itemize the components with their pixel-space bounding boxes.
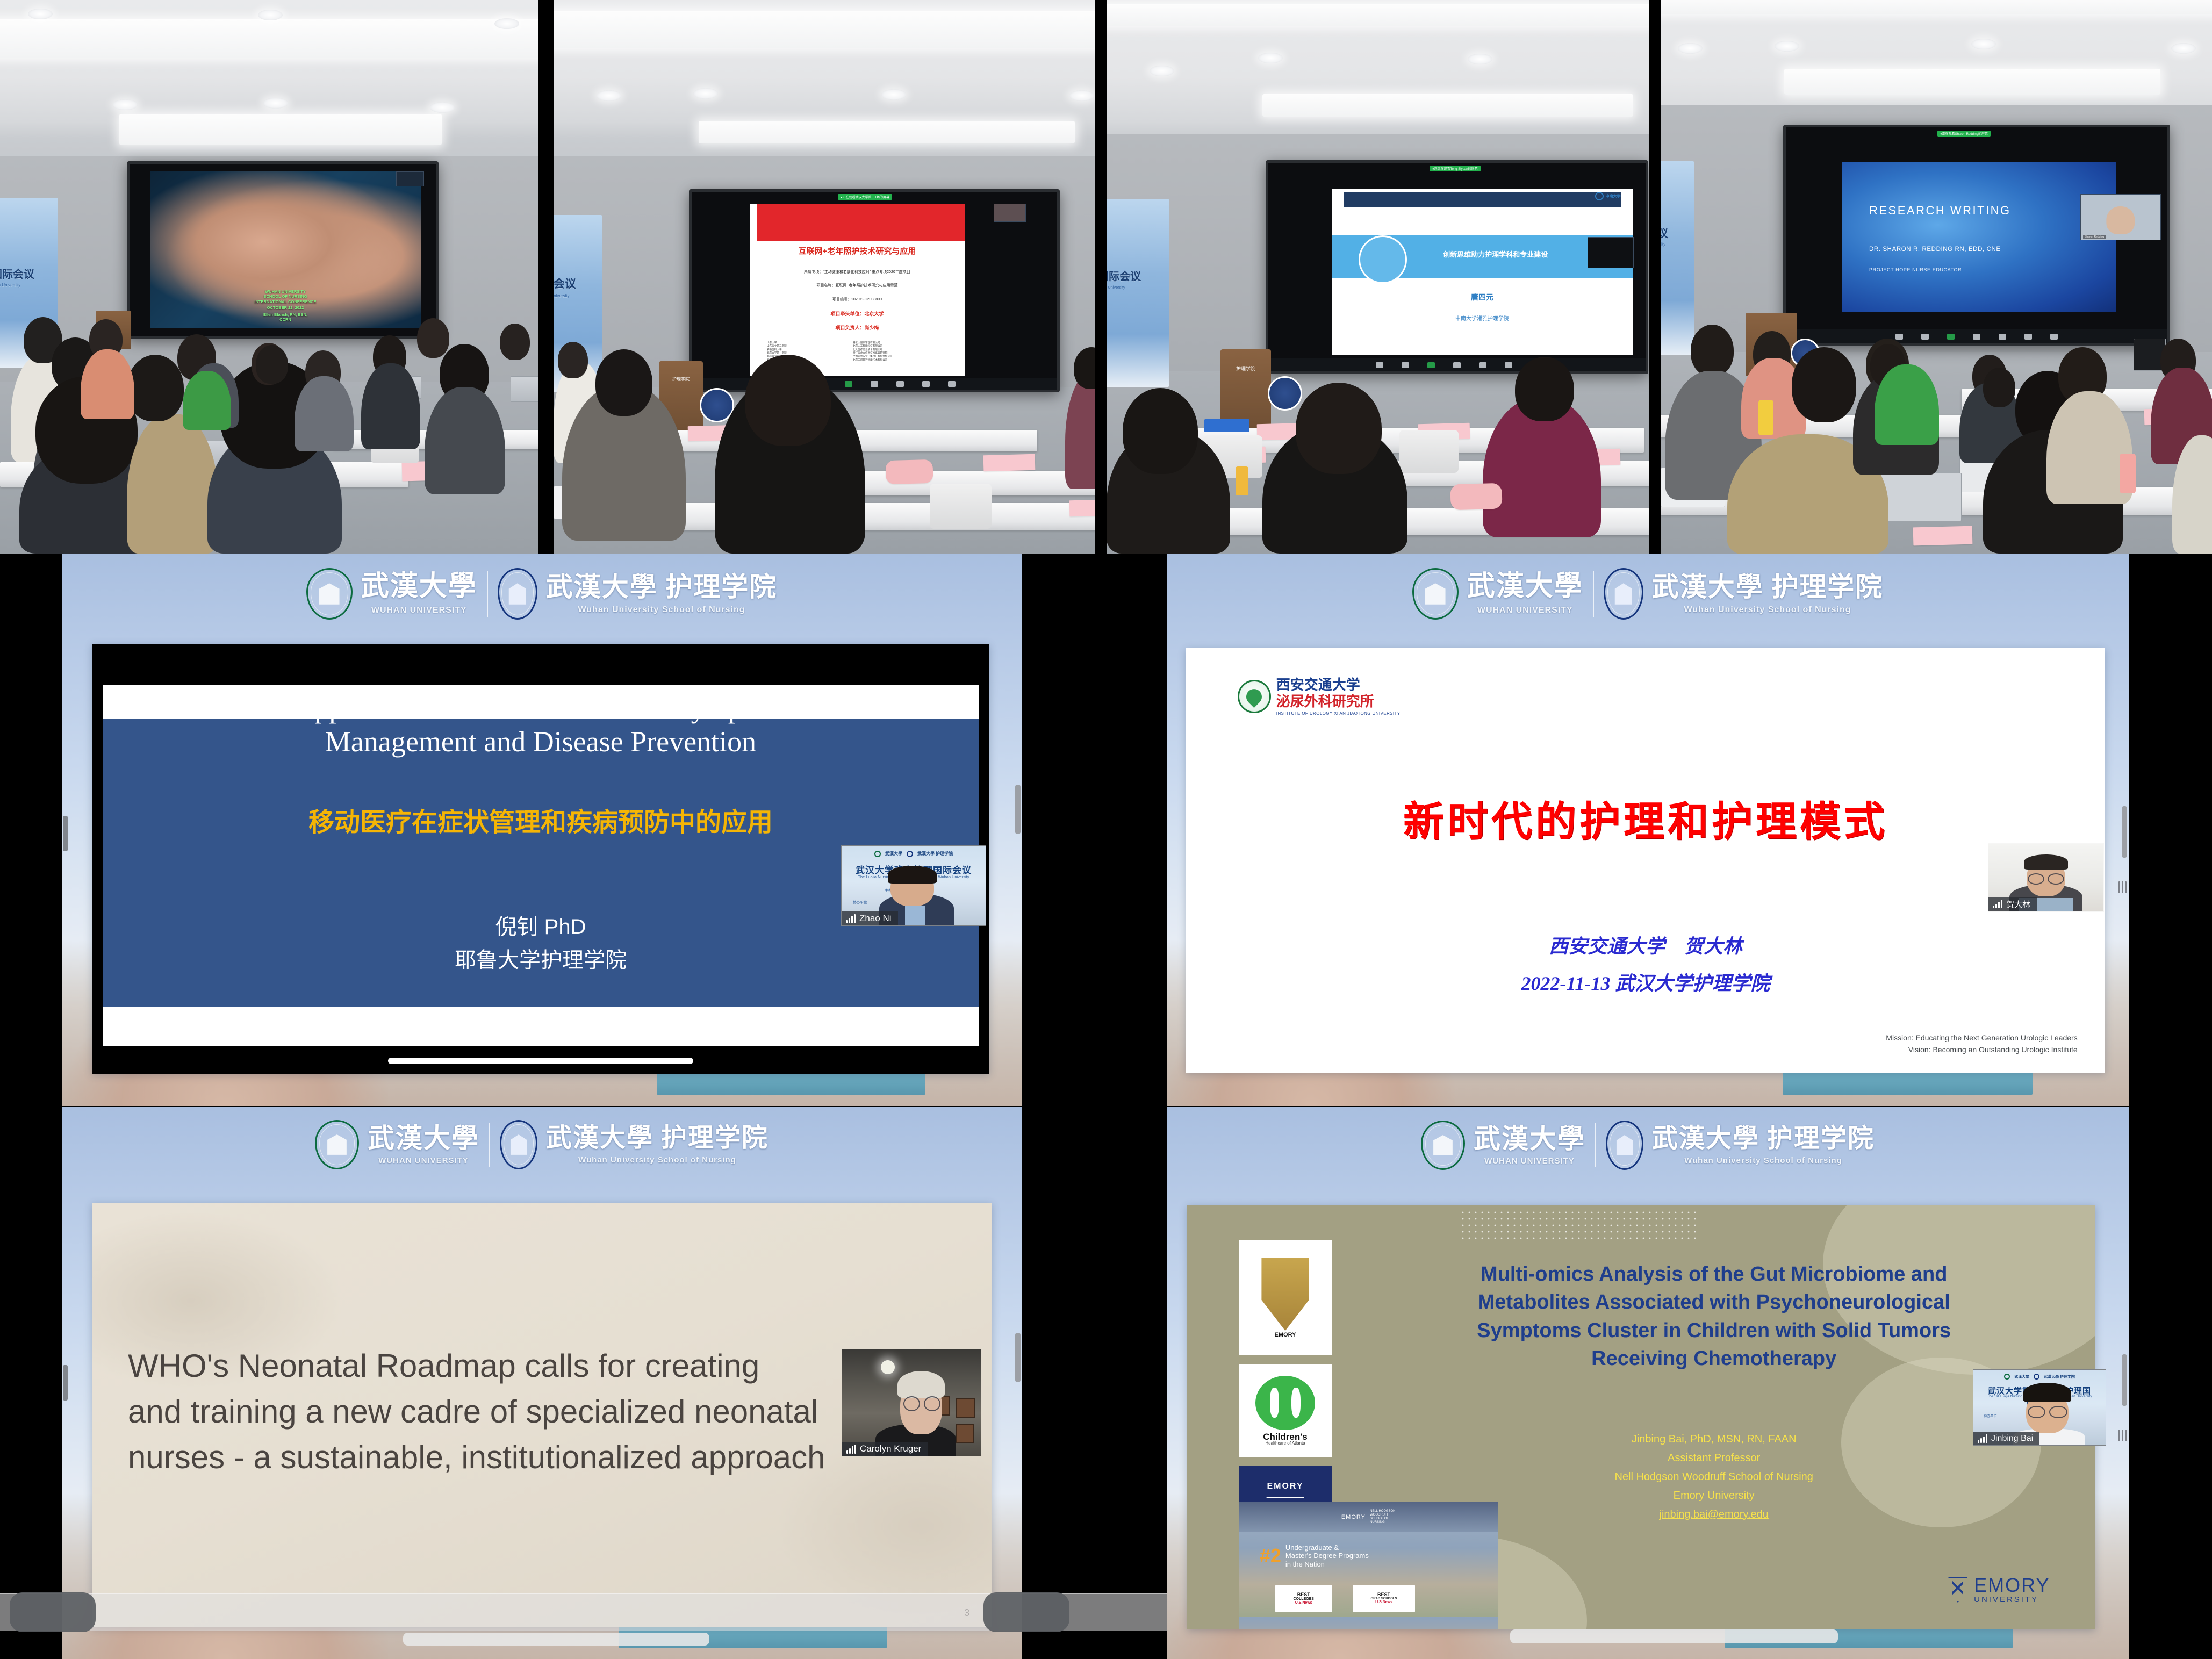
wuhan-university-cn: 武漢大學	[361, 573, 477, 601]
audience-head	[500, 324, 530, 360]
school-of-nursing-en: Wuhan University School of Nursing	[578, 605, 745, 615]
xjtu-urology-badge-icon	[1238, 680, 1271, 713]
thumb-wu-seal-icon	[2004, 1374, 2010, 1380]
emory-university-footer-logo: EMORY UNIVERSITY	[1947, 1576, 2050, 1604]
record-icon[interactable]	[871, 381, 878, 387]
school-of-nursing-cn: 武漢大學 护理学院	[546, 1125, 769, 1151]
panel-resize-grip[interactable]	[63, 1365, 68, 1401]
xjtu-urology-logo: 西安交通大学 泌尿外科研究所 INSTITUTE OF UROLOGY XI'A…	[1238, 678, 1401, 715]
vertical-scrollbar-thumb[interactable]	[2122, 1354, 2127, 1406]
apps-icon[interactable]	[948, 381, 956, 387]
live-transcript-icon[interactable]	[1479, 362, 1486, 368]
thumb-logo-row: 武漢大學 武漢大學 护理学院	[842, 851, 986, 857]
slide-byline: 西安交通大学 贺大林 2022-11-13 武汉大学护理学院	[1260, 928, 2031, 1002]
live-transcript-icon[interactable]	[1999, 334, 2006, 340]
horizontal-scrollbar-thumb-right[interactable]	[1510, 1629, 1838, 1643]
venue-banner-cn: 国际会议	[554, 275, 576, 291]
thumb-cohost-label: 协办单位	[1984, 1413, 1997, 1418]
lecture-hall-photo-1: 护理国际会议 Conference, Wuhan University WUHA…	[0, 0, 538, 554]
speaker-hair	[897, 1371, 945, 1398]
school-of-nursing-logo: 武漢大學 护理学院 Wuhan University School of Nur…	[1604, 568, 1884, 620]
thermos	[1758, 400, 1773, 435]
slide-title: 互联网+老年照护技术研究与应用	[750, 245, 965, 256]
audience-head	[1792, 347, 1856, 422]
laptop	[511, 376, 538, 402]
slide-presenter: DR. SHARON R. REDDING RN, EDD, CNE	[1869, 246, 2105, 253]
slide-horizontal-scroll-thumb[interactable]	[388, 1058, 693, 1065]
downlight-icon	[1468, 54, 1492, 64]
wuhan-university-cn: 武漢大學	[1467, 573, 1583, 601]
venue-banner-en: onference, Wuhan University	[1107, 285, 1125, 290]
school-of-nursing-en: Wuhan University School of Nursing	[1684, 1156, 1842, 1165]
speaker-name-badge: Carolyn Kruger	[842, 1442, 928, 1456]
panel-mobile-health: 武漢大學 WUHAN UNIVERSITY 武漢大學 护理学院 Wuhan Un…	[62, 554, 1022, 1106]
venue-banner: 会议 University	[1661, 161, 1694, 355]
speaker-name: Jinbing Bai	[1991, 1434, 2033, 1443]
slide-research-writing: RESEARCH WRITING DR. SHARON R. REDDING R…	[1842, 162, 2116, 312]
audience-head	[595, 349, 652, 416]
panel-who-neonatal: 武漢大學 WUHAN UNIVERSITY 武漢大學 护理学院 Wuhan Un…	[62, 1107, 1022, 1659]
thumb-wu-seal-icon	[874, 851, 881, 857]
pip-face	[2106, 206, 2135, 234]
speaker-name: 贺大林	[2006, 899, 2030, 910]
audience-head	[127, 355, 184, 421]
slide-line-2: 项目名称：互联网+老年照护技术研究与应用示范	[758, 283, 956, 288]
record-icon[interactable]	[1973, 334, 1980, 340]
video-icon[interactable]	[922, 381, 930, 387]
panel-new-era-nursing: 武漢大學 WUHAN UNIVERSITY 武漢大學 护理学院 Wuhan Un…	[1167, 554, 2129, 1106]
wuhan-university-seal-icon	[1421, 1121, 1465, 1170]
logo-divider	[489, 1123, 490, 1167]
audience-head	[1983, 368, 2015, 407]
ceiling-light-panel	[119, 114, 442, 145]
slide-header-bar	[1344, 192, 1620, 207]
wuhan-university-logo: 武漢大學 WUHAN UNIVERSITY	[1412, 568, 1583, 620]
csu-logo-cn: 中南大学	[1606, 193, 1621, 199]
thumb-nursing-seal-icon	[907, 851, 913, 857]
panel-resize-grip[interactable]	[63, 816, 68, 851]
wuhan-university-header: 武漢大學 WUHAN UNIVERSITY 武漢大學 护理学院 Wuhan Un…	[1167, 1107, 2129, 1183]
venue-banner: 护理国际会议 onference, Wuhan University	[1107, 199, 1169, 387]
thermos	[1236, 466, 1248, 495]
xjtu-cn-line-2: 泌尿外科研究所	[1276, 694, 1401, 709]
vertical-scrollbar-thumb[interactable]	[1015, 785, 1021, 834]
glasses-icon	[2028, 1406, 2067, 1418]
slide-line-3: 项目编号：2020YFC2008800	[758, 297, 956, 302]
speaker-name: Carolyn Kruger	[860, 1443, 921, 1454]
participants-icon[interactable]	[1376, 362, 1383, 368]
downlight-icon	[263, 98, 288, 109]
audience-head	[1691, 325, 1734, 376]
mission-divider	[1798, 1028, 2078, 1028]
school-of-nursing-seal-icon	[1606, 1121, 1643, 1170]
speaker-thumbnail-jinbing-bai[interactable]: 武漢大學 武漢大學 护理学院 武汉大学第一届珞珈护理国际会议 The 1st L…	[1973, 1369, 2106, 1446]
best-colleges-line1: BEST	[1297, 1592, 1310, 1597]
downlight-icon	[1069, 90, 1094, 101]
audience-head	[558, 342, 588, 378]
emory-footer-wordsub: UNIVERSITY	[1974, 1595, 2050, 1604]
wuhan-university-header: 武漢大學 WUHAN UNIVERSITY 武漢大學 护理学院 Wuhan Un…	[1167, 554, 2129, 634]
mission-vision-block: Mission: Educating the Next Generation U…	[1886, 1032, 2077, 1055]
pip-video-tile: Sharon Redding	[2080, 194, 2161, 240]
thermos	[2120, 454, 2136, 493]
wuhan-university-logo: 武漢大學 WUHAN UNIVERSITY	[315, 1120, 479, 1169]
thumb-cohost-label: 协办单位	[853, 899, 867, 904]
wuhan-university-en: WUHAN UNIVERSITY	[1484, 1157, 1575, 1166]
downlight-icon	[693, 88, 718, 99]
best-colleges-source: U.S.News	[1295, 1601, 1312, 1605]
thumb-nursing-seal-icon	[2034, 1374, 2039, 1380]
wuhan-university-seal-icon	[315, 1120, 359, 1169]
screenshot-collage: 护理国际会议 Conference, Wuhan University WUHA…	[0, 0, 2212, 1659]
share-screen-icon[interactable]	[1427, 362, 1435, 368]
emory-footer-shield-icon	[1947, 1577, 1969, 1603]
share-screen-icon[interactable]	[1947, 334, 1955, 340]
venue-banner-en: e, Wuhan University	[554, 293, 569, 298]
slide-chinese-title: 移动医疗在症状管理和疾病预防中的应用	[137, 807, 945, 838]
projection-screen: WUHAN UNIVERSITY SCHOOL OF NURSING INTER…	[127, 161, 439, 339]
emory-crest-label: EMORY	[1275, 1332, 1296, 1338]
rank-emory-label: EMORY	[1341, 1514, 1366, 1520]
zoom-toolbar[interactable]	[1786, 329, 2167, 343]
wuhan-university-header: 武漢大學 WUHAN UNIVERSITY 武漢大學 护理学院 Wuhan Un…	[62, 1107, 1022, 1182]
venue-banner-en: Conference, Wuhan University	[0, 283, 20, 288]
slide-elderly-care: 互联网+老年照护技术研究与应用 所属专项："主动健康和老龄化科技应对" 重点专项…	[750, 204, 965, 376]
best-colleges-line2: COLLEGES	[1293, 1597, 1314, 1601]
picture-frame	[956, 1424, 974, 1443]
thumbnail-strip-toggle[interactable]	[2118, 881, 2127, 893]
downlight-icon	[1775, 41, 1799, 52]
thumbnail-strip-toggle[interactable]	[2118, 1430, 2127, 1441]
downlight-icon	[1971, 39, 1996, 49]
best-colleges-badge: BEST COLLEGES U.S.News	[1275, 1585, 1332, 1612]
dot-pattern	[1460, 1209, 1696, 1243]
school-of-nursing-seal-icon	[500, 1120, 537, 1169]
school-of-nursing-seal-icon	[498, 568, 537, 620]
picture-frame	[956, 1398, 975, 1418]
downlight-icon	[1150, 66, 1174, 76]
slide-line-1: 所属专项："主动健康和老龄化科技应对" 重点专项2020年度项目	[758, 269, 956, 275]
childrens-mark-icon	[1255, 1376, 1315, 1430]
record-icon[interactable]	[1453, 362, 1461, 368]
speaker-name-badge: Jinbing Bai	[1973, 1432, 2039, 1445]
speaker-thumbnail-carolyn-kruger[interactable]: Carolyn Kruger	[842, 1349, 981, 1456]
chat-icon[interactable]	[1921, 334, 1929, 340]
ceiling-light-panel	[699, 121, 1075, 143]
venue-banner-cn: 护理国际会议	[0, 265, 34, 281]
audience-member	[183, 371, 231, 430]
chair	[1399, 430, 1459, 473]
slide-role: PROJECT HOPE NURSE EDUCATOR	[1869, 267, 2105, 272]
overlay-cap-right[interactable]	[983, 1592, 1069, 1632]
speaker-name-badge: 贺大林	[1988, 897, 2037, 911]
chat-icon[interactable]	[1402, 362, 1409, 368]
projection-screen: ●正在观看Sharon Redding的屏幕 RESEARCH WRITING …	[1783, 125, 2170, 346]
best-grad-source: U.S.News	[1375, 1600, 1392, 1604]
panel-multi-omics: 武漢大學 WUHAN UNIVERSITY 武漢大學 护理学院 Wuhan Un…	[1167, 1107, 2129, 1659]
author-email-link[interactable]: jinbing.bai@emory.edu	[1387, 1505, 2041, 1524]
school-of-nursing-cn: 武漢大學 护理学院	[546, 573, 778, 600]
wuhan-university-en: WUHAN UNIVERSITY	[371, 606, 467, 615]
wuhan-university-logo: 武漢大學 WUHAN UNIVERSITY	[306, 568, 477, 620]
pip-video-tile	[994, 204, 1026, 222]
recording-banner: ●您正在观看Teng Siyuan的屏幕	[1430, 166, 1481, 171]
wuhan-university-en: WUHAN UNIVERSITY	[1477, 606, 1573, 615]
downlight-icon	[1258, 53, 1283, 63]
desk-row	[645, 503, 1095, 530]
slide-english-title: Application of Mobile Health in Symptom …	[137, 691, 945, 758]
slide-title: RESEARCH WRITING	[1869, 204, 2099, 218]
handout-paper	[1069, 499, 1095, 517]
podium-label: 护理学院	[672, 376, 690, 382]
school-of-nursing-en: Wuhan University School of Nursing	[1684, 605, 1851, 615]
vision-line: Vision: Becoming an Outstanding Urologic…	[1886, 1044, 2077, 1056]
participants-icon[interactable]	[1895, 334, 1903, 340]
thumb-logo-row: 武漢大學 武漢大學 护理学院	[1973, 1374, 2106, 1380]
pip-name-label: Sharon Redding	[2083, 235, 2106, 239]
author-school: Nell Hodgson Woodruff School of Nursing	[1387, 1468, 2041, 1486]
signal-strength-icon	[1978, 1434, 1987, 1443]
author-name: Jinbing Bai, PhD, MSN, RN, FAAN	[1387, 1430, 2041, 1449]
downlight-icon	[597, 90, 621, 101]
wuhan-university-seal-icon	[1412, 568, 1459, 620]
rank-statement: #2 Undergraduate & Master's Degree Progr…	[1260, 1543, 1369, 1569]
logo-divider	[1595, 1123, 1596, 1167]
wuhan-university-cn: 武漢大學	[368, 1125, 479, 1152]
venue-banner-en: University	[1661, 242, 1665, 247]
downlight-icon	[113, 99, 138, 110]
glasses-icon	[903, 1396, 941, 1411]
share-screen-icon[interactable]	[845, 381, 852, 387]
slide-body: WHO's Neonatal Roadmap calls for creatin…	[128, 1343, 965, 1481]
audience-head	[1123, 388, 1198, 474]
recording-banner: ●正在观看Sharon Redding的屏幕	[1937, 131, 1991, 137]
slide-multi-omics[interactable]: EMORY Children's Healthcare of Atlanta E…	[1187, 1205, 2095, 1629]
emory-crest-icon	[1255, 1258, 1315, 1331]
csu-seal-icon	[1595, 192, 1604, 200]
ceiling-light-panel	[1784, 69, 2160, 95]
downlight-icon	[494, 18, 519, 29]
audience-member	[81, 349, 134, 419]
laptop	[1876, 473, 1962, 521]
logo-divider	[487, 571, 488, 617]
overlay-cap-left[interactable]	[10, 1592, 96, 1632]
downlight-icon	[1678, 43, 1703, 54]
horizontal-scrollbar-thumb-left[interactable]	[403, 1633, 709, 1646]
wuhan-university-header: 武漢大學 WUHAN UNIVERSITY 武漢大學 护理学院 Wuhan Un…	[62, 554, 1022, 634]
speaker-hair	[2024, 854, 2067, 870]
childrens-name: Children's	[1263, 1432, 1307, 1441]
folder	[1204, 419, 1249, 432]
speaker-hair	[888, 866, 937, 884]
downlight-icon	[881, 89, 906, 100]
slide-title: 新时代的护理和护理模式	[1241, 788, 2050, 848]
school-of-nursing-cn: 武漢大學 护理学院	[1652, 1126, 1875, 1152]
slide-white-band-bottom	[103, 1007, 979, 1046]
xjtu-en-line: INSTITUTE OF UROLOGY XI'AN JIAOTONG UNIV…	[1276, 711, 1401, 716]
best-grad-line1: BEST	[1377, 1592, 1390, 1597]
signal-strength-icon	[1993, 900, 2002, 908]
speaker-thumbnail-he-dalin[interactable]: 贺大林	[1988, 843, 2104, 912]
slide-red-band	[750, 204, 965, 241]
downlight-icon	[28, 9, 53, 19]
venue-banner-cn: 会议	[1661, 225, 1668, 240]
signal-strength-icon	[846, 1445, 856, 1454]
best-grad-schools-badge: BEST GRAD SCHOOLS U.S.News	[1353, 1585, 1415, 1612]
speaker-hair	[2023, 1383, 2071, 1402]
slide-innovation-thinking: 中南大学 创新思维助力护理学科和专业建设 唐四元 中南大学湘雅护理学院	[1332, 189, 1633, 355]
slide-partners-right: 腾云大健康管理有限公司 北京人工智能科技有限公司 北大医疗信息技术有限公司 浙江…	[853, 341, 893, 362]
slide-affiliation: 中南大学湘雅护理学院	[1332, 314, 1633, 322]
vertical-scrollbar-thumb[interactable]	[2122, 806, 2127, 858]
slide-new-era-nursing[interactable]: 西安交通大学 泌尿外科研究所 INSTITUTE OF UROLOGY XI'A…	[1186, 648, 2105, 1073]
rank-number: #2	[1260, 1545, 1281, 1567]
zoom-toolbar[interactable]	[1268, 358, 1646, 371]
slide-letterbox	[92, 644, 989, 685]
lecture-hall-photo-2: 国际会议 e, Wuhan University ●正在观看武汉大学第三1场的屏…	[554, 0, 1095, 554]
audience-member	[295, 376, 354, 451]
downlight-icon	[258, 10, 283, 20]
downlight-icon	[2171, 43, 2196, 54]
audience-head	[256, 345, 288, 384]
speaker-name: Zhao Ni	[859, 913, 892, 924]
speaker-collar	[905, 906, 925, 925]
school-of-nursing-logo: 武漢大學 护理学院 Wuhan University School of Nur…	[498, 568, 778, 620]
slide-caption: WUHAN UNIVERSITY SCHOOL OF NURSING INTER…	[199, 289, 372, 322]
slide-lead-unit: 项目牵头单位：北京大学	[758, 310, 956, 317]
podium-seal-icon	[1268, 376, 1302, 411]
school-of-nursing-seal-icon	[1604, 568, 1643, 620]
handout-paper	[983, 454, 1036, 472]
speaker-name-badge: Zhao Ni	[842, 911, 898, 925]
wuhan-university-logo: 武漢大學 WUHAN UNIVERSITY	[1421, 1121, 1585, 1170]
slide-title: Multi-omics Analysis of the Gut Microbio…	[1387, 1260, 2041, 1373]
live-transcript-icon[interactable]	[896, 381, 904, 387]
slide-presenter: 倪钊 PhD 耶鲁大学护理学院	[137, 910, 945, 977]
glasses-icon	[2028, 873, 2064, 884]
slide-author-block: Jinbing Bai, PhD, MSN, RN, FAAN Assistan…	[1387, 1430, 2041, 1524]
conference-photo-row: 护理国际会议 Conference, Wuhan University WUHA…	[0, 0, 2212, 554]
wuhan-university-en: WUHAN UNIVERSITY	[378, 1156, 469, 1165]
lecture-hall-photo-4: 会议 University ●正在观看Sharon Redding的屏幕 RES…	[1661, 0, 2212, 554]
xjtu-cn-line-1: 西安交通大学	[1276, 678, 1401, 692]
podium-label: 护理学院	[1236, 365, 1255, 372]
slide-presenter: 唐四元	[1332, 292, 1633, 303]
school-of-nursing-logo: 武漢大學 护理学院 Wuhan University School of Nur…	[500, 1120, 769, 1169]
vertical-scrollbar-thumb[interactable]	[1015, 1333, 1021, 1382]
author-role: Assistant Professor	[1387, 1449, 2041, 1468]
csu-big-seal-icon	[1359, 235, 1407, 284]
emory-card-word: EMORY	[1267, 1482, 1303, 1491]
pouch	[885, 459, 933, 484]
wuhan-university-seal-icon	[306, 568, 353, 620]
downlight-icon	[430, 102, 455, 113]
chair	[930, 484, 992, 529]
slide-lead-person: 项目负责人：尚少梅	[758, 324, 956, 331]
logo-divider	[1593, 571, 1594, 617]
ceiling-light-strip	[0, 19, 538, 58]
school-of-nursing-cn: 武漢大學 护理学院	[1652, 573, 1884, 600]
ceiling-light-strip	[1107, 4, 1649, 26]
projection-screen: ●您正在观看Teng Siyuan的屏幕 中南大学 创新思维助力护理学科和专业建…	[1266, 160, 1648, 374]
video-icon[interactable]	[1505, 362, 1512, 368]
audience-head	[417, 318, 449, 358]
wuhan-university-cn: 武漢大學	[1474, 1125, 1585, 1152]
signal-strength-icon	[846, 914, 856, 923]
pip-video-tile	[396, 171, 424, 186]
school-of-nursing-en: Wuhan University School of Nursing	[578, 1155, 736, 1165]
audience-head	[1515, 357, 1574, 421]
ceiling-light-strip	[1661, 0, 2212, 14]
speaker-thumbnail-zhao-ni[interactable]: 武漢大學 武漢大學 护理学院 武汉大学珞珈护理国际会议 The Luojia N…	[841, 845, 986, 926]
author-university: Emory University	[1387, 1486, 2041, 1505]
mission-line: Mission: Educating the Next Generation U…	[1886, 1032, 2077, 1044]
video-icon[interactable]	[2024, 334, 2032, 340]
childrens-tagline: Healthcare of Atlanta	[1265, 1441, 1305, 1446]
childrens-healthcare-logo: Children's Healthcare of Atlanta	[1239, 1364, 1331, 1457]
emory-crest-logo: EMORY	[1239, 1240, 1331, 1355]
audience-head	[1296, 383, 1382, 474]
slide-hands-image: WUHAN UNIVERSITY SCHOOL OF NURSING INTER…	[150, 171, 421, 328]
emory-footer-wordmark: EMORY	[1974, 1576, 2050, 1595]
venue-banner-cn: 护理国际会议	[1107, 268, 1141, 283]
pouch	[1450, 483, 1502, 510]
apps-icon[interactable]	[2050, 334, 2058, 340]
recording-banner: ●正在观看武汉大学第三1场的屏幕	[838, 194, 892, 200]
ceiling-lamp-icon	[881, 1360, 895, 1374]
ceiling-light-panel	[1262, 94, 1633, 117]
ceiling-light-strip	[554, 11, 1095, 48]
csu-logo: 中南大学	[1595, 192, 1621, 200]
lecture-hall-photo-3: 护理国际会议 onference, Wuhan University ●您正在观…	[1107, 0, 1649, 554]
rank-description: Undergraduate & Master's Degree Programs…	[1285, 1543, 1369, 1569]
handout-paper	[1913, 526, 1973, 546]
pip-video-tile	[1588, 237, 1634, 268]
projection-screen: ●正在观看武汉大学第三1场的屏幕 互联网+老年照护技术研究与应用 所属专项："主…	[689, 189, 1060, 392]
audience-head	[745, 355, 831, 446]
school-of-nursing-logo: 武漢大學 护理学院 Wuhan University School of Nur…	[1606, 1121, 1875, 1170]
